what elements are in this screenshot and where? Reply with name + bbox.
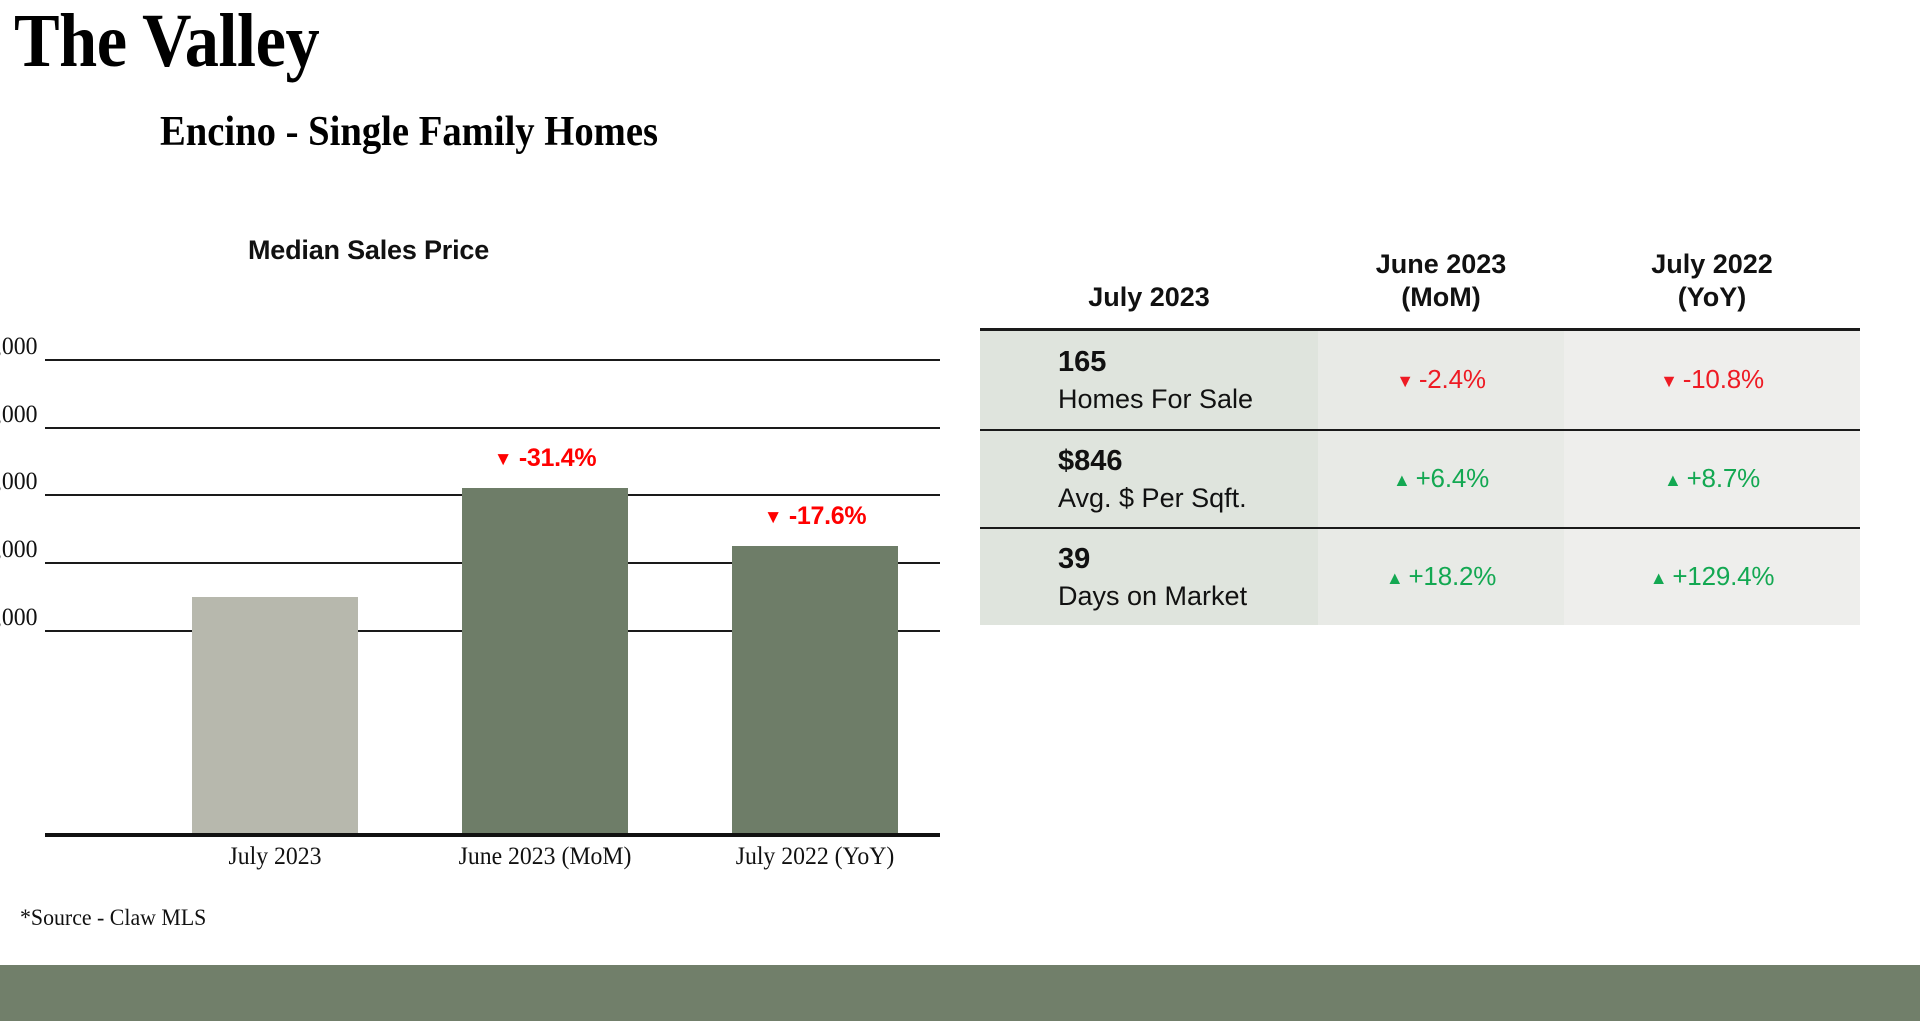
metric-cell-homes-for-sale: 165 Homes For Sale	[980, 331, 1318, 429]
chart-bar	[732, 546, 898, 833]
header-line-1: July 2022	[1564, 248, 1860, 281]
metric-cell-avg-price-per-sqft: $846 Avg. $ Per Sqft.	[980, 429, 1318, 527]
chart-title: Median Sales Price	[248, 235, 489, 266]
triangle-up-icon: ▲	[1650, 568, 1668, 588]
table-row: $846 Avg. $ Per Sqft. ▲+6.4% ▲+8.7%	[980, 429, 1860, 527]
header-line-2: (MoM)	[1318, 281, 1564, 314]
triangle-up-icon: ▲	[1664, 470, 1682, 490]
chart-plot-area: $1,500,000$2,000,000$2,500,000$3,000,000…	[45, 325, 940, 833]
triangle-down-icon: ▼	[764, 507, 783, 528]
footer-accent-bar	[0, 965, 1920, 1021]
table-header-july-2023: July 2023	[980, 248, 1318, 328]
yoy-cell-avg-price-per-sqft: ▲+8.7%	[1564, 429, 1860, 527]
yoy-cell-homes-for-sale: ▼-10.8%	[1564, 331, 1860, 429]
header-line-2: (YoY)	[1564, 281, 1860, 314]
metric-label: Days on Market	[1058, 579, 1247, 614]
table-header-july-2022-yoy: July 2022 (YoY)	[1564, 248, 1860, 328]
table-row: 165 Homes For Sale ▼-2.4% ▼-10.8%	[980, 331, 1860, 429]
bar-delta-annotation: ▼ -17.6%	[655, 502, 975, 531]
metric-cell-days-on-market: 39 Days on Market	[980, 527, 1318, 625]
yoy-cell-days-on-market: ▲+129.4%	[1564, 527, 1860, 625]
chart-gridline: $3,000,000	[45, 427, 940, 429]
y-axis-tick-label: $3,000,000	[0, 401, 37, 429]
x-axis-tick-label: July 2023	[123, 843, 427, 871]
yoy-delta-text: +8.7%	[1687, 463, 1760, 493]
metric-value: 165	[1058, 343, 1106, 382]
metric-value: 39	[1058, 540, 1090, 579]
mom-delta-text: +6.4%	[1416, 463, 1489, 493]
yoy-delta: ▲+129.4%	[1650, 561, 1775, 592]
triangle-down-icon: ▼	[1396, 371, 1414, 391]
header-line-1: June 2023	[1318, 248, 1564, 281]
mom-cell-homes-for-sale: ▼-2.4%	[1318, 331, 1564, 429]
chart-bar	[462, 488, 628, 833]
bar-delta-text: -31.4%	[512, 444, 596, 472]
mom-delta: ▼-2.4%	[1396, 364, 1486, 395]
table-header-june-2023-mom: June 2023 (MoM)	[1318, 248, 1564, 328]
mom-delta: ▲+18.2%	[1386, 561, 1496, 592]
bar-delta-annotation: ▼ -31.4%	[385, 444, 705, 473]
triangle-down-icon: ▼	[494, 449, 513, 470]
yoy-delta: ▲+8.7%	[1664, 463, 1760, 494]
yoy-delta: ▼-10.8%	[1660, 364, 1764, 395]
median-sales-price-chart: Median Sales Price $1,500,000$2,000,000$…	[0, 220, 960, 900]
triangle-up-icon: ▲	[1386, 568, 1404, 588]
page-title: The Valley	[14, 0, 319, 85]
market-stats-table: July 2023 June 2023 (MoM) July 2022 (YoY…	[980, 248, 1860, 625]
chart-x-axis	[45, 833, 940, 837]
metric-label: Homes For Sale	[1058, 382, 1253, 417]
mom-cell-days-on-market: ▲+18.2%	[1318, 527, 1564, 625]
y-axis-tick-label: $3,500,000	[0, 333, 37, 361]
mom-delta-text: +18.2%	[1408, 561, 1496, 591]
mom-cell-avg-price-per-sqft: ▲+6.4%	[1318, 429, 1564, 527]
yoy-delta-text: -10.8%	[1683, 364, 1764, 394]
metric-label: Avg. $ Per Sqft.	[1058, 481, 1247, 516]
chart-bar	[192, 597, 358, 833]
y-axis-tick-label: $1,500,000	[0, 604, 37, 632]
page-subtitle: Encino - Single Family Homes	[160, 108, 658, 156]
mom-delta: ▲+6.4%	[1393, 463, 1489, 494]
chart-gridline: $3,500,000	[45, 359, 940, 361]
yoy-delta-text: +129.4%	[1672, 561, 1774, 591]
triangle-up-icon: ▲	[1393, 470, 1411, 490]
triangle-down-icon: ▼	[1660, 371, 1678, 391]
y-axis-tick-label: $2,500,000	[0, 468, 37, 496]
x-axis-tick-label: July 2022 (YoY)	[663, 843, 967, 871]
table-header-row: July 2023 June 2023 (MoM) July 2022 (YoY…	[980, 248, 1860, 328]
metric-value: $846	[1058, 442, 1123, 481]
y-axis-tick-label: $2,000,000	[0, 536, 37, 564]
mom-delta-text: -2.4%	[1419, 364, 1486, 394]
source-note: *Source - Claw MLS	[20, 905, 206, 931]
table-row: 39 Days on Market ▲+18.2% ▲+129.4%	[980, 527, 1860, 625]
x-axis-tick-label: June 2023 (MoM)	[393, 843, 697, 871]
bar-delta-text: -17.6%	[782, 502, 866, 530]
header-line-1: July 2023	[980, 281, 1318, 314]
